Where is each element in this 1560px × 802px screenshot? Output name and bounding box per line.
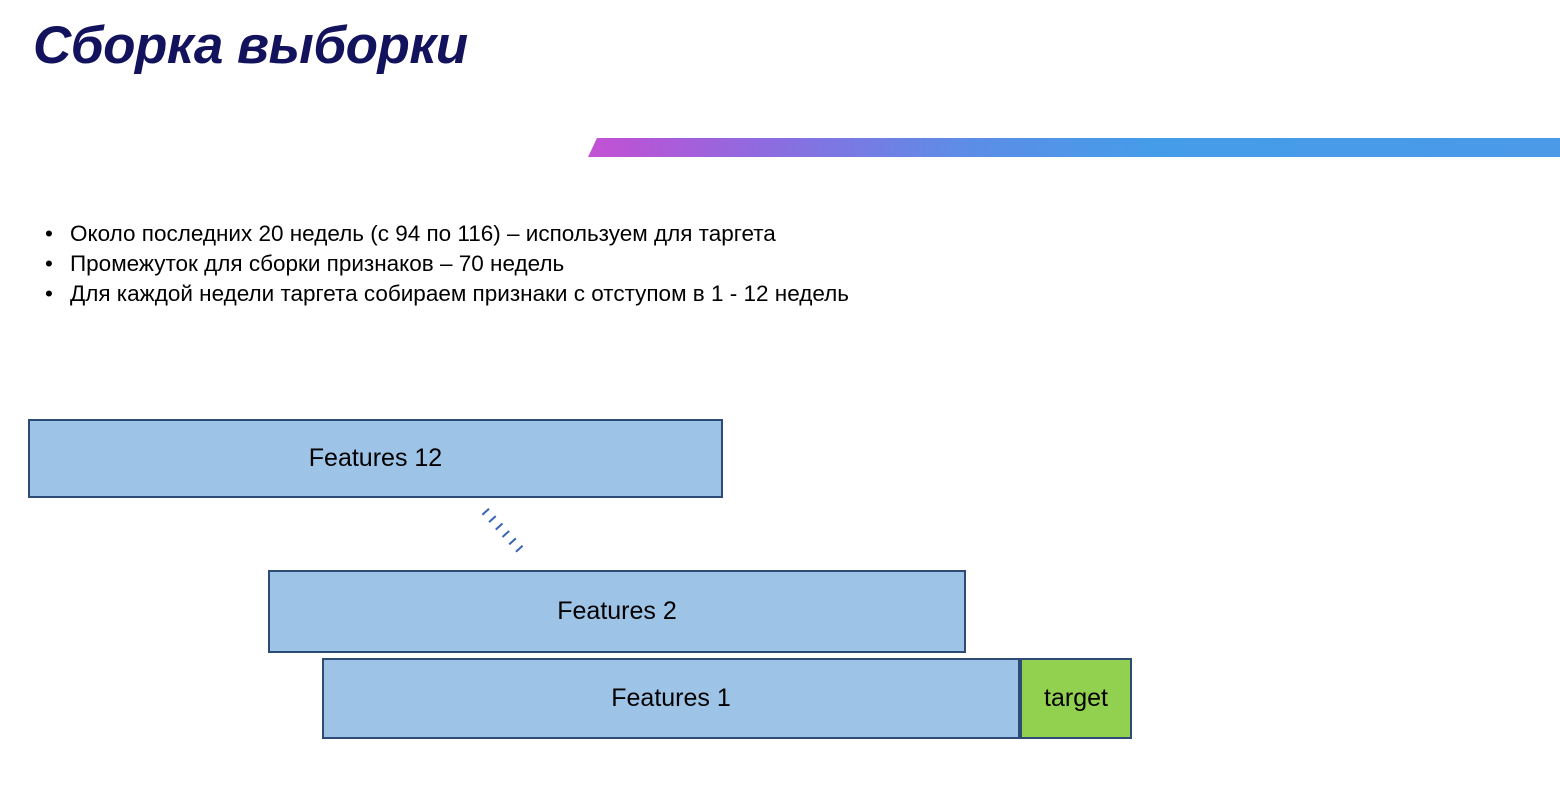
target-label: target [1044, 685, 1108, 713]
target-box: target [1020, 658, 1132, 739]
sampling-timeline-diagram: Features 12 Features 2 Features 1 target [0, 0, 1560, 802]
features-2-label: Features 2 [557, 598, 677, 626]
features-1-box: Features 1 [322, 658, 1020, 739]
features-2-box: Features 2 [268, 570, 966, 653]
dotted-connector-stroke [485, 511, 524, 554]
features-12-label: Features 12 [309, 445, 442, 473]
features-12-box: Features 12 [28, 419, 723, 498]
features-1-label: Features 1 [611, 685, 731, 713]
dotted-connector-line [478, 504, 534, 562]
